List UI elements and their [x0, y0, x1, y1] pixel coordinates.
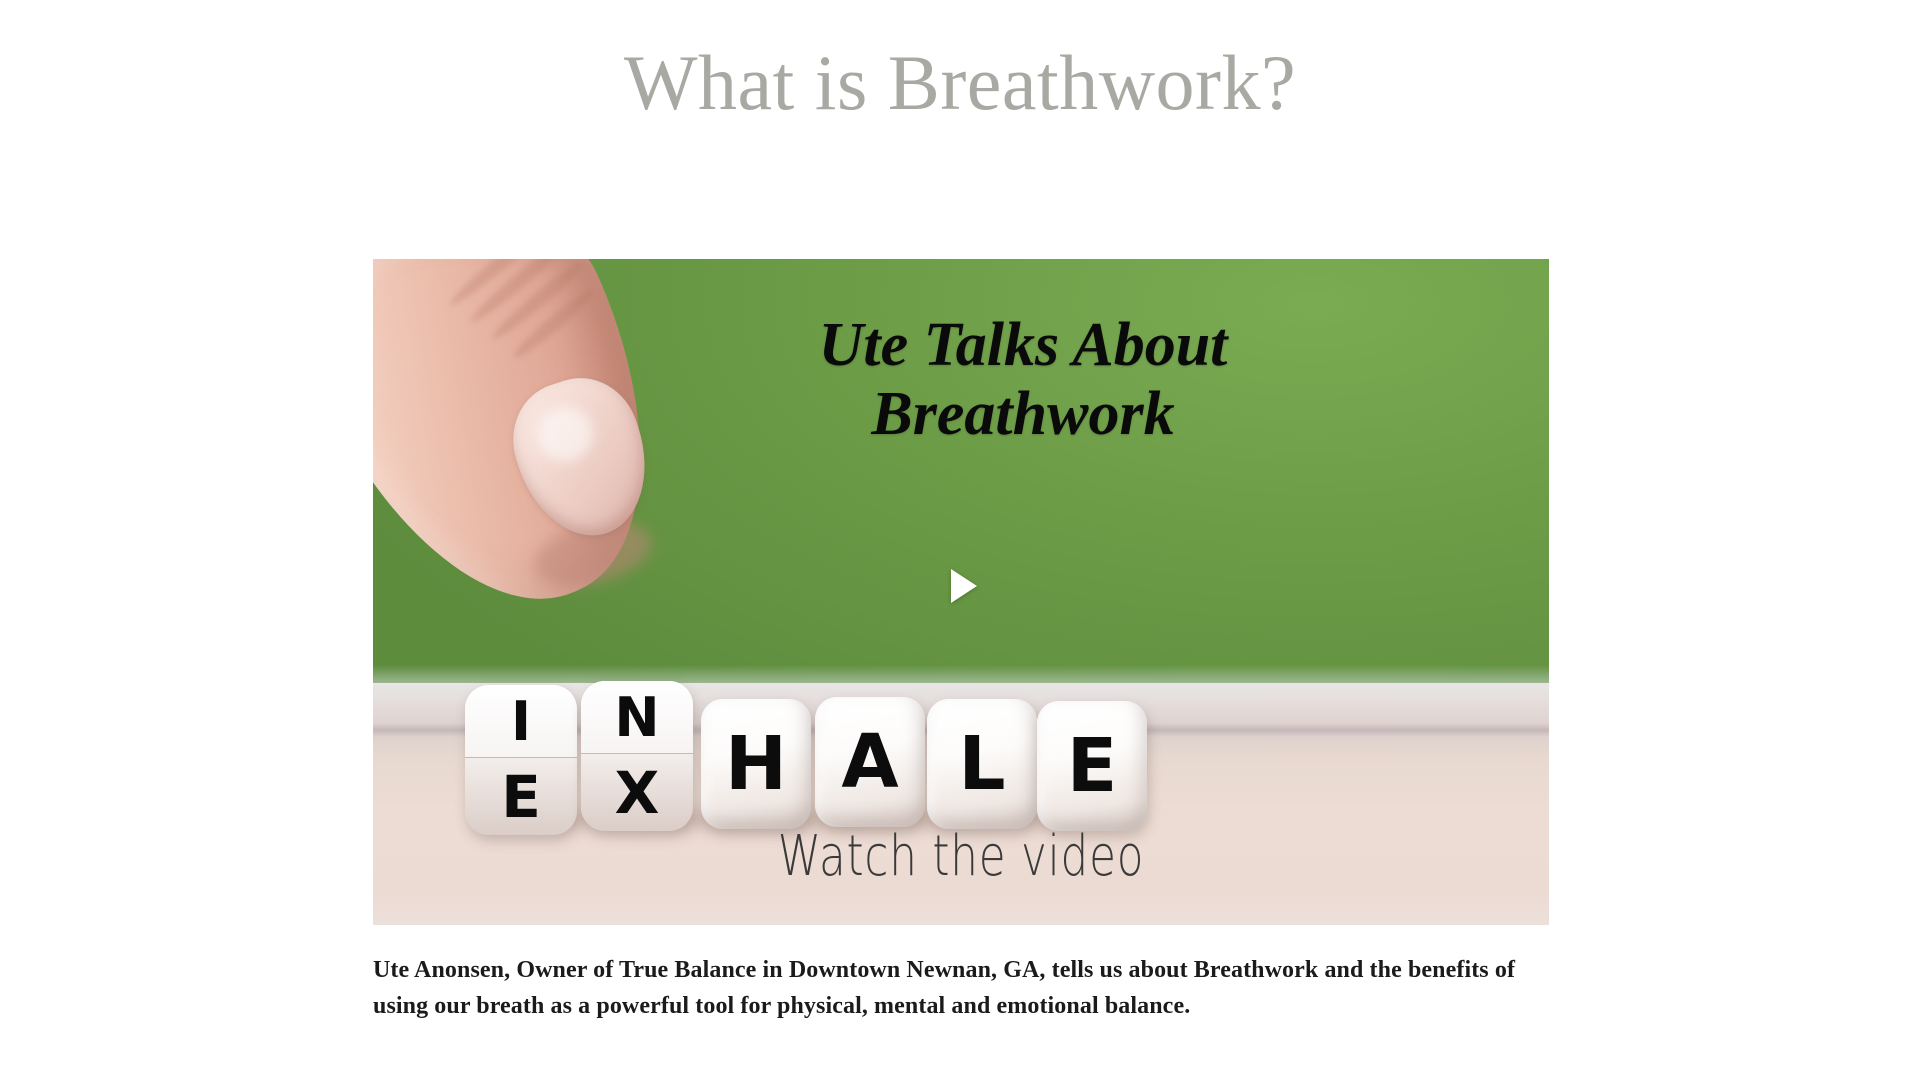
die-face-front-letter: X: [581, 753, 693, 831]
die-letter-h: H: [701, 699, 811, 829]
video-embed-container[interactable]: I E N X H A L E Ute Talks About Breathwo…: [373, 259, 1549, 925]
die-face-top-letter: N: [581, 681, 693, 753]
page-root: What is Breathwork?: [0, 0, 1920, 1079]
die-letter-a: A: [815, 697, 925, 827]
die-letter-l: L: [927, 699, 1037, 829]
die-face-top-letter: I: [465, 685, 577, 757]
die-face-front-letter: E: [465, 757, 577, 835]
die-rotating-2: N X: [581, 681, 693, 831]
video-caption: Ute Anonsen, Owner of True Balance in Do…: [373, 952, 1553, 1025]
die-letter-e: E: [1037, 701, 1147, 831]
green-backdrop: [373, 259, 1549, 691]
page-title: What is Breathwork?: [0, 40, 1920, 126]
dice-row: I E N X H A L E: [465, 667, 1125, 835]
die-rotating-1: I E: [465, 685, 577, 835]
video-thumbnail[interactable]: I E N X H A L E Ute Talks About Breathwo…: [373, 259, 1549, 925]
